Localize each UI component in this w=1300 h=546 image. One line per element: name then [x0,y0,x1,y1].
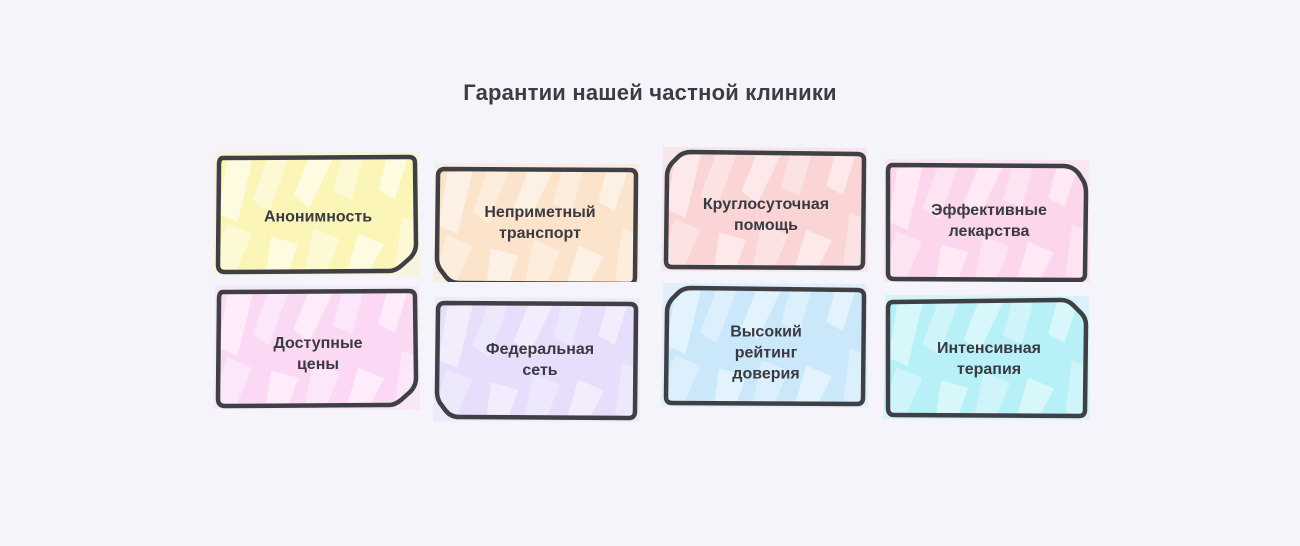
card-shape-federal-network [429,282,651,422]
guarantee-card-federal-network[interactable]: Федеральная сеть [429,282,651,422]
guarantee-card-discreet-transport[interactable]: Неприметный транспорт [429,142,651,282]
card-shape-affordable-prices [205,282,427,422]
card-shape-round-the-clock-help [653,142,875,282]
guarantee-card-intensive-therapy[interactable]: Интенсивная терапия [877,282,1099,422]
guarantee-card-high-trust-rating[interactable]: Высокий рейтинг доверия [653,282,875,422]
guarantee-card-round-the-clock-help[interactable]: Круглосуточная помощь [653,142,875,282]
card-shape-anonymity [205,142,427,282]
guarantee-card-effective-medicine[interactable]: Эффективные лекарства [877,142,1099,282]
guarantee-card-affordable-prices[interactable]: Доступные цены [205,282,427,422]
infographic-canvas: Гарантии нашей частной клиники Анонимнос… [0,0,1300,546]
guarantee-card-anonymity[interactable]: Анонимность [205,142,427,282]
card-shape-effective-medicine [877,142,1099,282]
card-shape-high-trust-rating [653,282,875,422]
card-shape-intensive-therapy [877,282,1099,422]
page-title: Гарантии нашей частной клиники [0,80,1300,106]
guarantee-cards-grid: АнонимностьНеприметный транспортКруглосу… [205,142,1105,422]
card-shape-discreet-transport [429,142,651,282]
